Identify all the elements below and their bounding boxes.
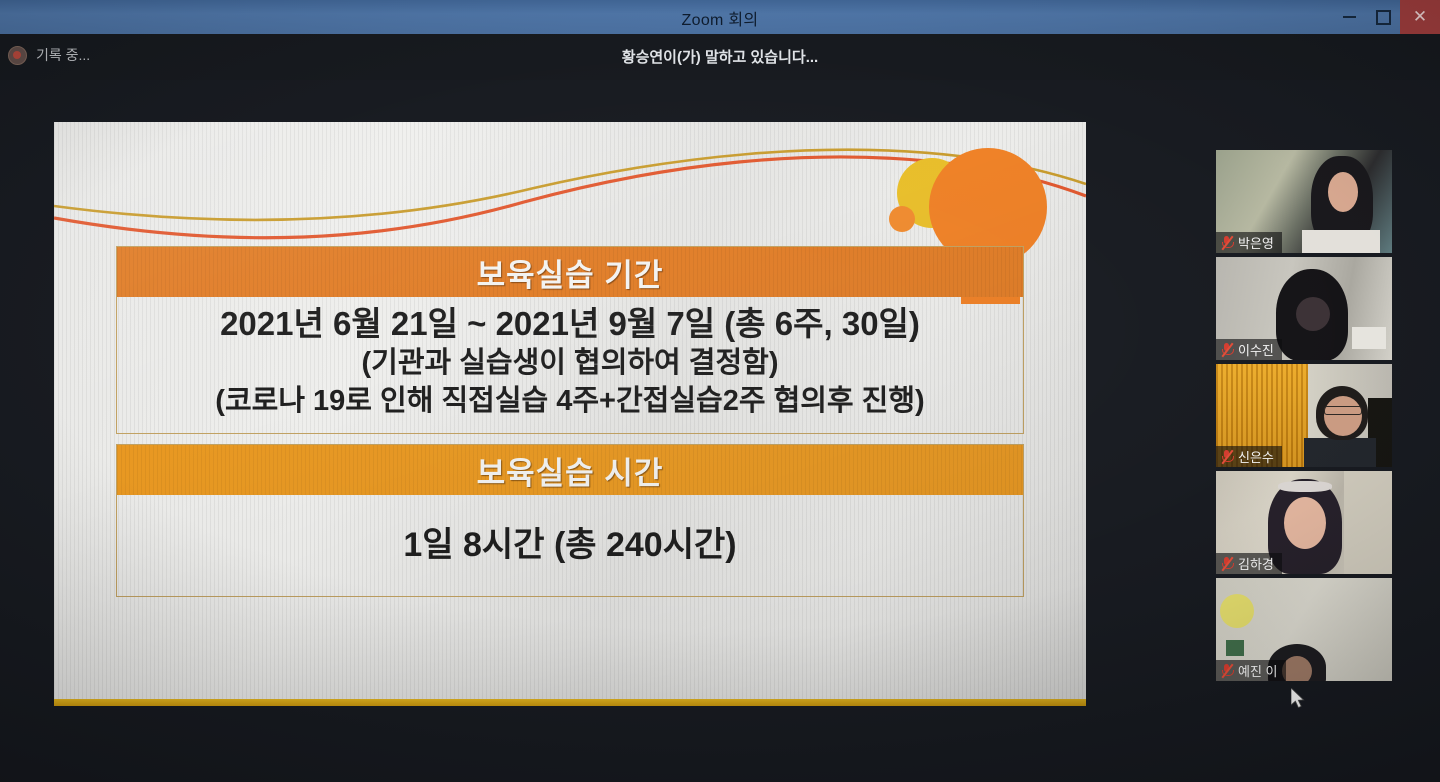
- slide-block-hours-title: 보육실습 시간: [477, 448, 664, 493]
- participant-name-badge: 예진 이: [1216, 660, 1286, 681]
- window-title: Zoom 회의: [0, 6, 1440, 30]
- avatar-shape: [1304, 438, 1376, 467]
- slide-block-period: 보육실습 기간 2021년 6월 21일 ~ 2021년 9월 7일 (총 6주…: [116, 246, 1024, 434]
- slide-block-hours: 보육실습 시간 1일 8시간 (총 240시간): [116, 444, 1024, 597]
- active-speaker-label: 황승연이(가) 말하고 있습니다...: [0, 46, 1440, 67]
- minimize-icon: [1343, 16, 1356, 18]
- participant-tile[interactable]: 이수진: [1216, 257, 1392, 360]
- microphone-muted-icon: [1220, 449, 1233, 464]
- avatar-shape: [1328, 172, 1358, 212]
- participant-name-badge: 김하경: [1216, 553, 1282, 574]
- participant-name-badge: 신은수: [1216, 446, 1282, 467]
- period-line-1: 2021년 6월 21일 ~ 2021년 9월 7일 (총 6주, 30일): [127, 303, 1013, 345]
- participant-name: 김하경: [1238, 554, 1274, 573]
- avatar-shape: [1278, 481, 1332, 492]
- participant-name: 예진 이: [1238, 661, 1278, 680]
- avatar-shape: [1296, 297, 1330, 331]
- slide-bottom-accent-bar: [54, 699, 1086, 706]
- participant-tile[interactable]: 박은영: [1216, 150, 1392, 253]
- shared-screen-stage: 보육실습 기간 2021년 6월 21일 ~ 2021년 9월 7일 (총 6주…: [0, 80, 1440, 782]
- minimize-button[interactable]: [1332, 0, 1366, 34]
- window-controls: ✕: [1332, 0, 1440, 34]
- microphone-muted-icon: [1220, 663, 1233, 678]
- cursor-arrow-icon: [1291, 688, 1307, 712]
- slide-block-period-header: 보육실습 기간: [117, 247, 1023, 297]
- avatar-shape: [1324, 406, 1362, 415]
- slide-block-hours-header: 보육실습 시간: [117, 445, 1023, 495]
- avatar-shape: [1302, 230, 1380, 253]
- decor-circle-small: [889, 206, 915, 232]
- microphone-muted-icon: [1220, 235, 1233, 250]
- avatar-shape: [1324, 396, 1362, 436]
- participant-name-badge: 박은영: [1216, 232, 1282, 253]
- microphone-muted-icon: [1220, 342, 1233, 357]
- avatar-shape: [1282, 656, 1312, 681]
- slide-block-period-body: 2021년 6월 21일 ~ 2021년 9월 7일 (총 6주, 30일) (…: [117, 297, 1023, 433]
- avatar-shape: [1220, 594, 1254, 628]
- period-line-3: (코로나 19로 인해 직접실습 4주+간접실습2주 협의후 진행): [127, 383, 1013, 421]
- shared-slide: 보육실습 기간 2021년 6월 21일 ~ 2021년 9월 7일 (총 6주…: [54, 122, 1086, 706]
- participant-name-badge: 이수진: [1216, 339, 1282, 360]
- maximize-button[interactable]: [1366, 0, 1400, 34]
- window-titlebar[interactable]: Zoom 회의 ✕: [0, 0, 1440, 34]
- avatar-shape: [1284, 497, 1326, 549]
- participant-name: 박은영: [1238, 233, 1274, 252]
- period-line-2: (기관과 실습생이 협의하여 결정함): [127, 345, 1013, 383]
- zoom-meeting-window: Zoom 회의 ✕ 기록 중... 황승연이(가) 말하고 있습니다...: [0, 0, 1440, 782]
- slide-block-hours-body: 1일 8시간 (총 240시간): [117, 495, 1023, 596]
- close-button[interactable]: ✕: [1400, 0, 1440, 34]
- slide-block-period-title: 보육실습 기간: [477, 250, 664, 295]
- avatar-shape: [1226, 640, 1244, 656]
- avatar-shape: [1352, 327, 1386, 349]
- participant-tile[interactable]: 예진 이: [1216, 578, 1392, 681]
- mouse-cursor: [1291, 688, 1307, 717]
- microphone-muted-icon: [1220, 556, 1233, 571]
- participant-tile[interactable]: 김하경: [1216, 471, 1392, 574]
- participant-filmstrip: 박은영 이수진: [1216, 150, 1392, 681]
- participant-tile[interactable]: 신은수: [1216, 364, 1392, 467]
- meeting-top-toolbar: 기록 중... 황승연이(가) 말하고 있습니다...: [0, 34, 1440, 80]
- participant-name: 신은수: [1238, 447, 1274, 466]
- avatar-shape: [1344, 471, 1392, 574]
- participant-name: 이수진: [1238, 340, 1274, 359]
- maximize-icon: [1376, 10, 1391, 25]
- hours-line-1: 1일 8시간 (총 240시간): [127, 517, 1013, 566]
